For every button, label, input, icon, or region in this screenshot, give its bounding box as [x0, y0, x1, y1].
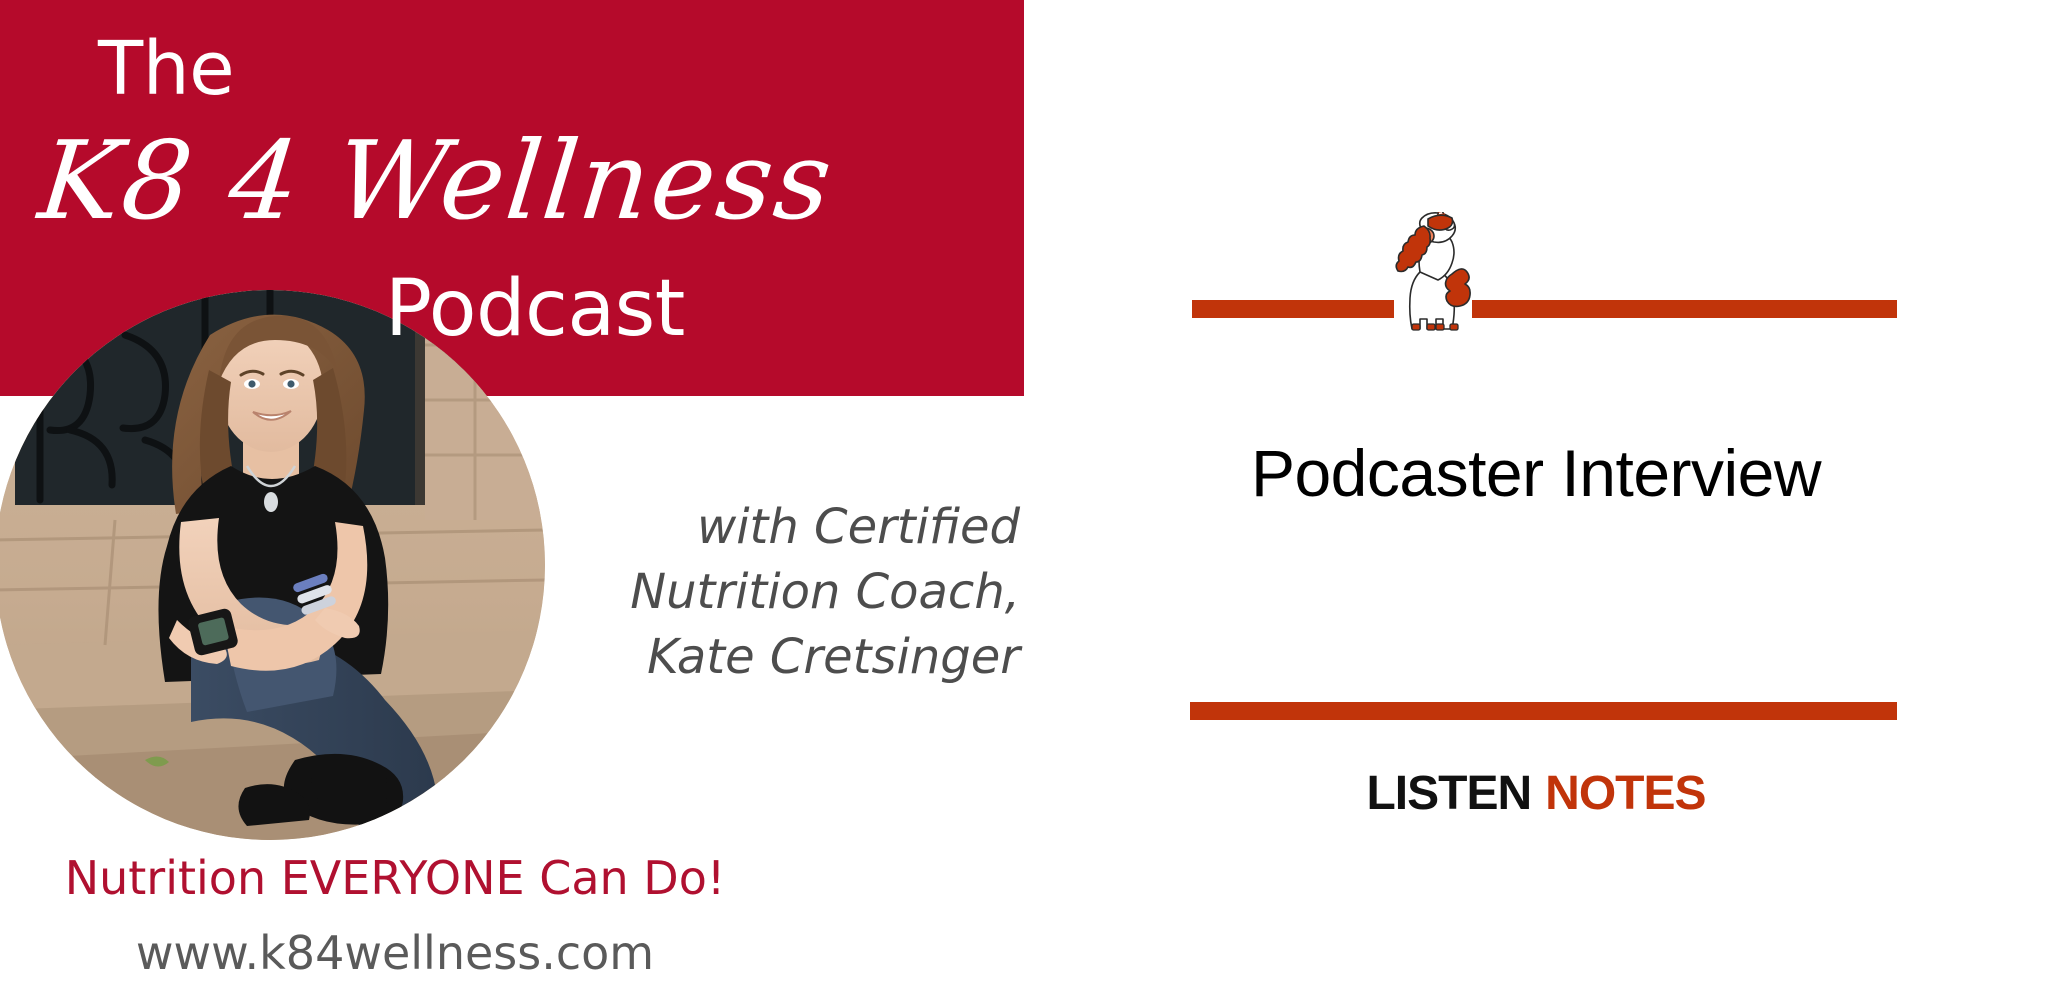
- card-heading: Podcaster Interview: [1024, 440, 2048, 506]
- unicorn-glyph: [1394, 212, 1472, 344]
- cover-title-script: K8 4 Wellness: [34, 128, 838, 236]
- host-headshot-illustration: [0, 290, 545, 840]
- cover-byline: with Certified Nutrition Coach, Kate Cre…: [560, 495, 1020, 689]
- byline-line-1: with Certified: [560, 495, 1020, 560]
- unicorn-icon: [1394, 212, 1472, 344]
- wordmark-listen: LISTEN: [1366, 767, 1531, 820]
- cover-title-the: The: [98, 32, 234, 106]
- listen-notes-card: Podcaster Interview LISTENNOTES: [1024, 0, 2048, 1000]
- divider-top-left: [1192, 300, 1394, 318]
- wordmark-notes: NOTES: [1545, 767, 1705, 820]
- divider-bottom: [1190, 702, 1897, 720]
- host-photo-circle: [0, 290, 545, 840]
- cover-tagline: Nutrition EVERYONE Can Do!: [0, 855, 790, 901]
- cover-title-podcast: Podcast: [385, 270, 685, 348]
- byline-line-3: Kate Cretsinger: [560, 625, 1020, 690]
- divider-top-right: [1472, 300, 1897, 318]
- byline-line-2: Nutrition Coach,: [560, 560, 1020, 625]
- screenshot-canvas: The K8 4 Wellness Podcast with Certified…: [0, 0, 2048, 1000]
- cover-website-url: www.k84wellness.com: [0, 930, 790, 976]
- listen-notes-wordmark: LISTENNOTES: [1024, 770, 2048, 818]
- podcast-cover-art: The K8 4 Wellness Podcast with Certified…: [0, 0, 1024, 1000]
